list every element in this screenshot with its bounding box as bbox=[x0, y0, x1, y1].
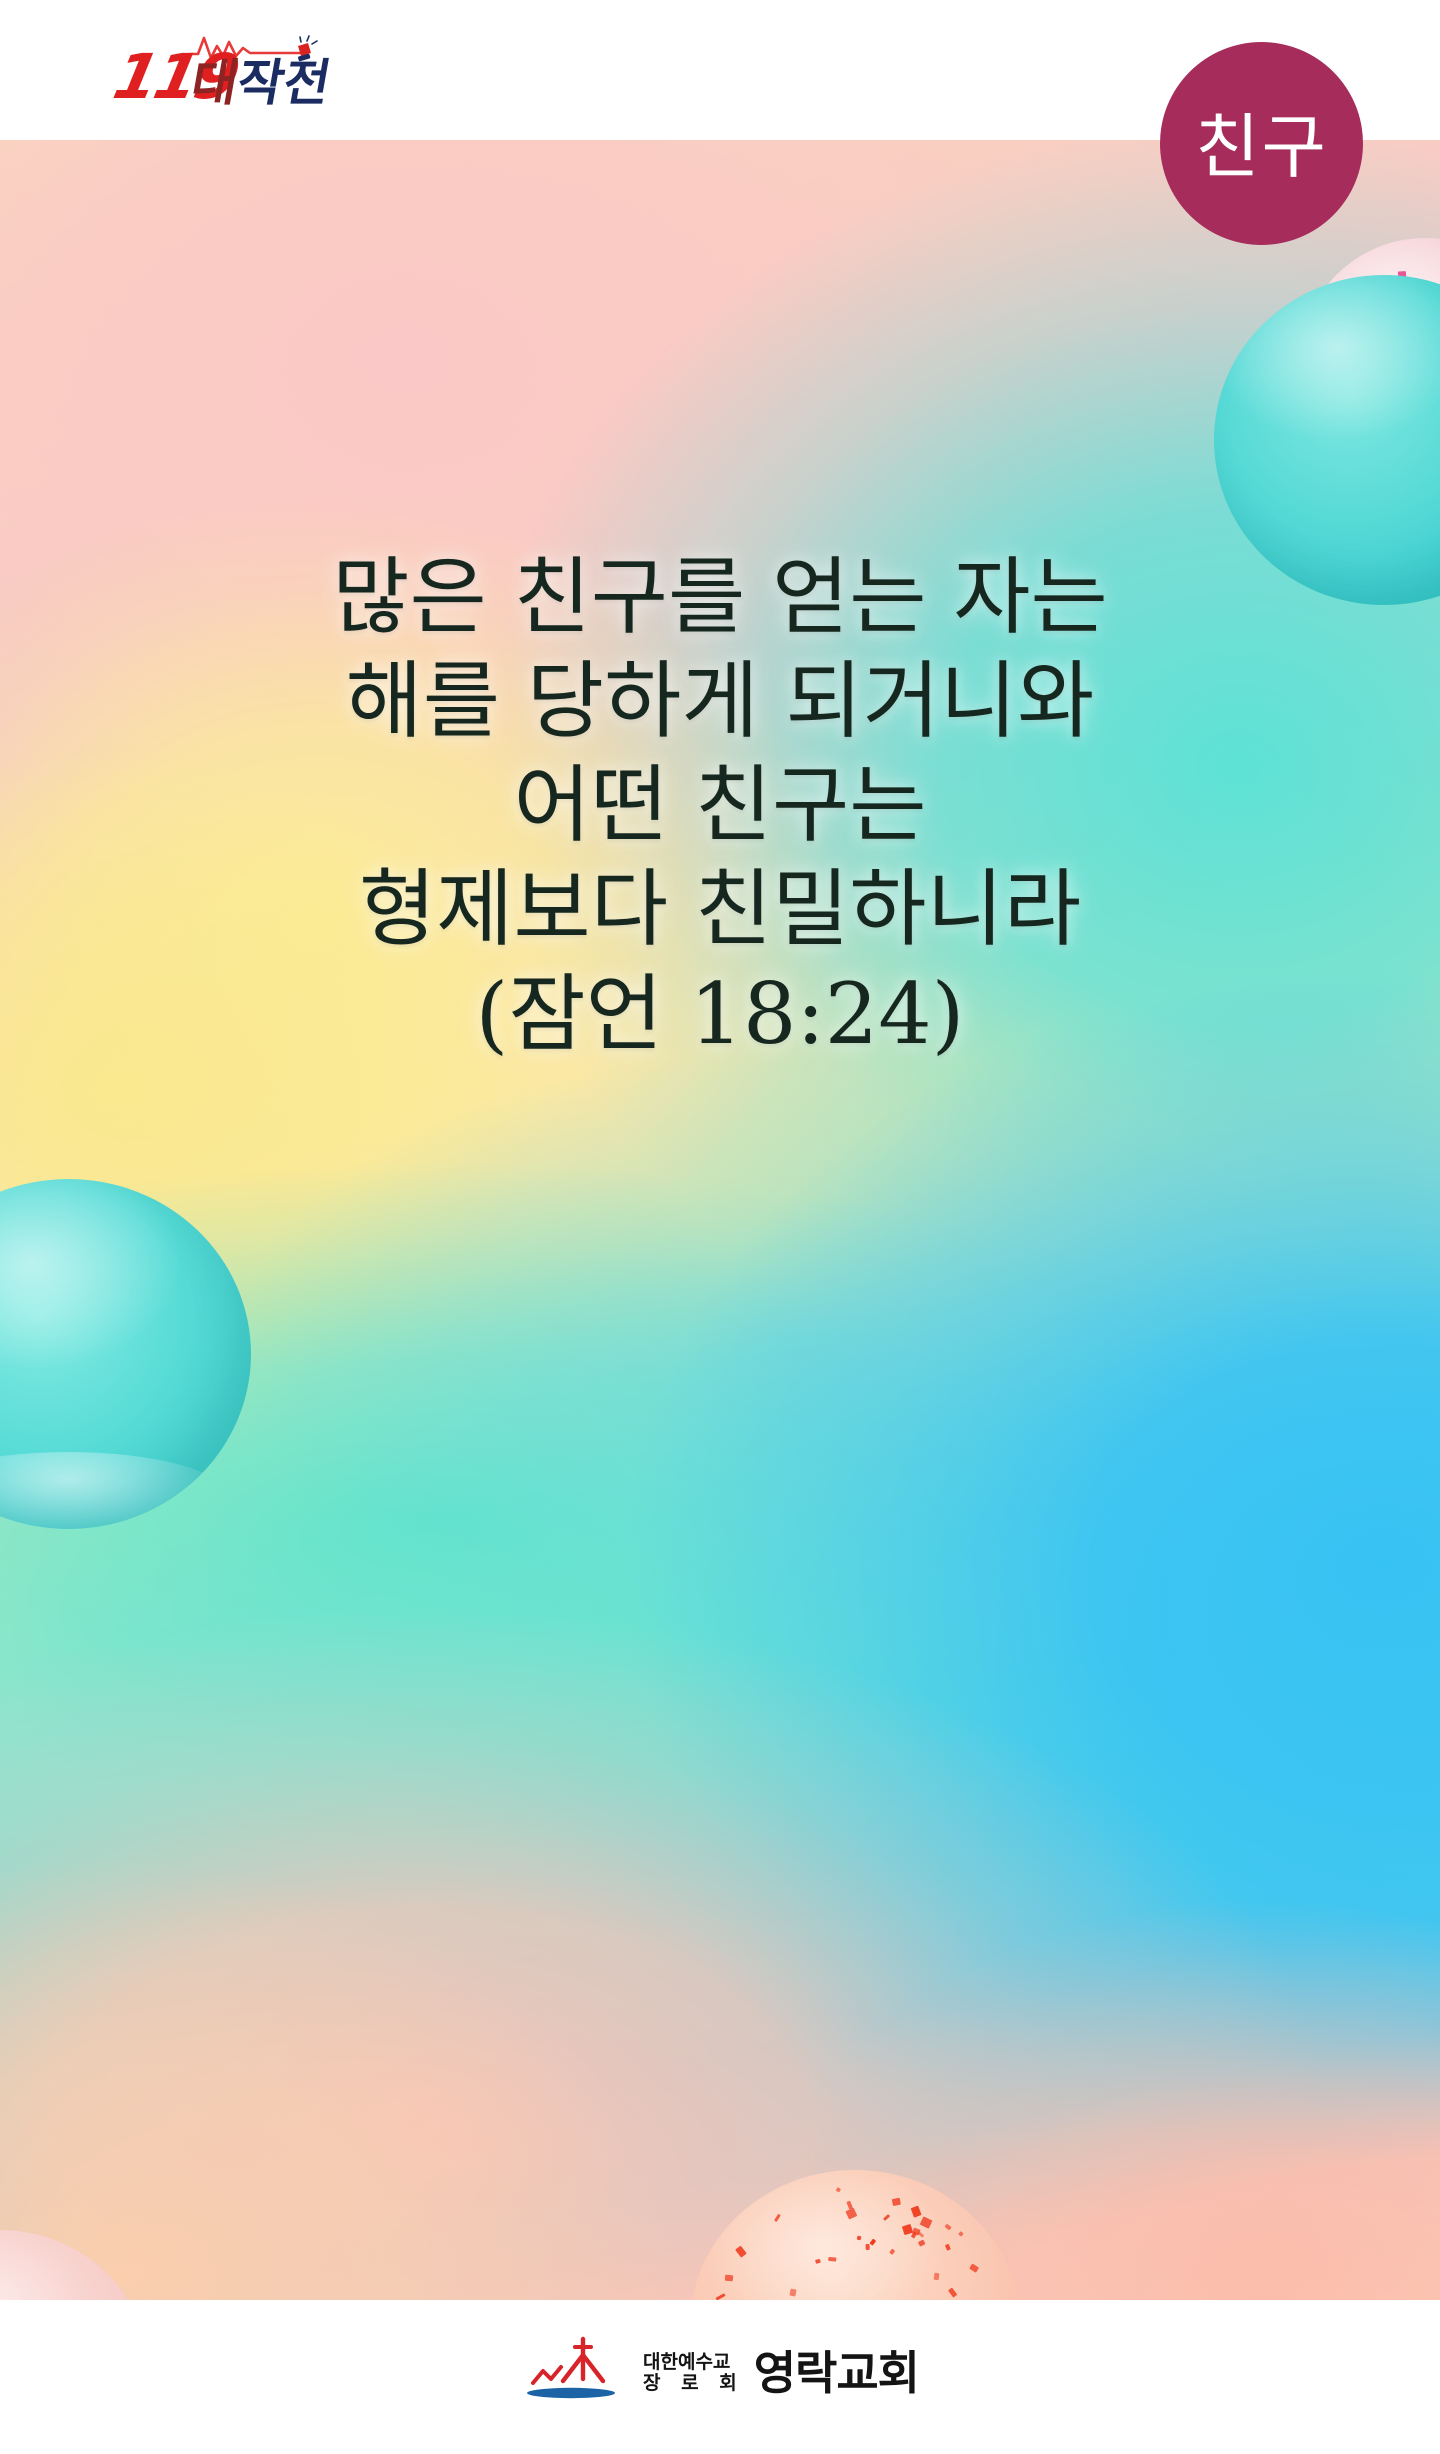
macaron-sprinkle bbox=[918, 2240, 925, 2247]
macaron-sprinkle bbox=[870, 2238, 877, 2245]
macaron-sprinkle bbox=[945, 2243, 951, 2250]
program-logo: 119 대 작전 bbox=[62, 26, 352, 112]
svg-text:작전: 작전 bbox=[233, 53, 335, 112]
macaron-sprinkle bbox=[934, 2273, 940, 2281]
logo-jakjeon: 작전 bbox=[233, 53, 335, 112]
macaron-sprinkle bbox=[845, 2208, 857, 2220]
church-logo: 대한예수교 장 로 회 영락교회 bbox=[521, 2333, 919, 2413]
macaron-sprinkle bbox=[836, 2187, 842, 2193]
macaron-sprinkle bbox=[857, 2235, 862, 2240]
church-wordmark: 대한예수교 장 로 회 영락교회 bbox=[643, 2350, 919, 2396]
denomination-line-2: 장 로 회 bbox=[643, 2373, 744, 2394]
macaron-sprinkle bbox=[827, 2257, 836, 2262]
macaron-sprinkle bbox=[866, 2244, 870, 2250]
poster-root: 많은 친구를 얻는 자는 해를 당하게 되거니와 어떤 친구는 형제보다 친밀하… bbox=[0, 0, 1440, 2454]
verse-text-block: 많은 친구를 얻는 자는 해를 당하게 되거니와 어떤 친구는 형제보다 친밀하… bbox=[0, 545, 1440, 1066]
macaron-sprinkle bbox=[945, 2224, 952, 2231]
denomination-line-1: 대한예수교 bbox=[643, 2352, 744, 2373]
macaron-highlight bbox=[0, 1452, 229, 1529]
macaron-sprinkle bbox=[725, 2274, 734, 2281]
macaron-sprinkle bbox=[735, 2245, 746, 2257]
artwork-background bbox=[0, 140, 1440, 2300]
verse-line-1: 많은 친구를 얻는 자는 bbox=[0, 545, 1440, 649]
macaron-sprinkle bbox=[774, 2214, 781, 2222]
verse-reference: (잠언 18:24) bbox=[0, 962, 1440, 1066]
macaron-sprinkle bbox=[815, 2259, 821, 2264]
macaron-sprinkle bbox=[847, 2200, 853, 2209]
verse-line-3: 어떤 친구는 bbox=[0, 753, 1440, 857]
verse-line-2: 해를 당하게 되거니와 bbox=[0, 649, 1440, 753]
macaron-sprinkle bbox=[911, 2231, 917, 2238]
denomination-stack: 대한예수교 장 로 회 bbox=[643, 2352, 744, 2395]
category-badge[interactable]: 친구 bbox=[1160, 42, 1363, 245]
macaron-sprinkle bbox=[959, 2231, 965, 2237]
footer-bar: 대한예수교 장 로 회 영락교회 bbox=[0, 2300, 1440, 2454]
macaron-sprinkle bbox=[892, 2198, 901, 2206]
macaron-sprinkle bbox=[969, 2264, 979, 2274]
church-name: 영락교회 bbox=[754, 2350, 919, 2396]
category-badge-label: 친구 bbox=[1195, 112, 1328, 182]
macaron-sprinkle bbox=[883, 2214, 890, 2221]
macaron-sprinkle bbox=[919, 2217, 932, 2230]
verse-line-4: 형제보다 친밀하니라 bbox=[0, 857, 1440, 961]
macaron-sprinkle bbox=[789, 2288, 796, 2296]
macaron-sprinkle bbox=[716, 2293, 726, 2300]
church-mark-icon bbox=[521, 2333, 625, 2413]
macaron-sprinkle bbox=[947, 2287, 957, 2297]
macaron-sprinkle bbox=[910, 2206, 921, 2218]
macaron-sprinkle bbox=[890, 2248, 896, 2254]
